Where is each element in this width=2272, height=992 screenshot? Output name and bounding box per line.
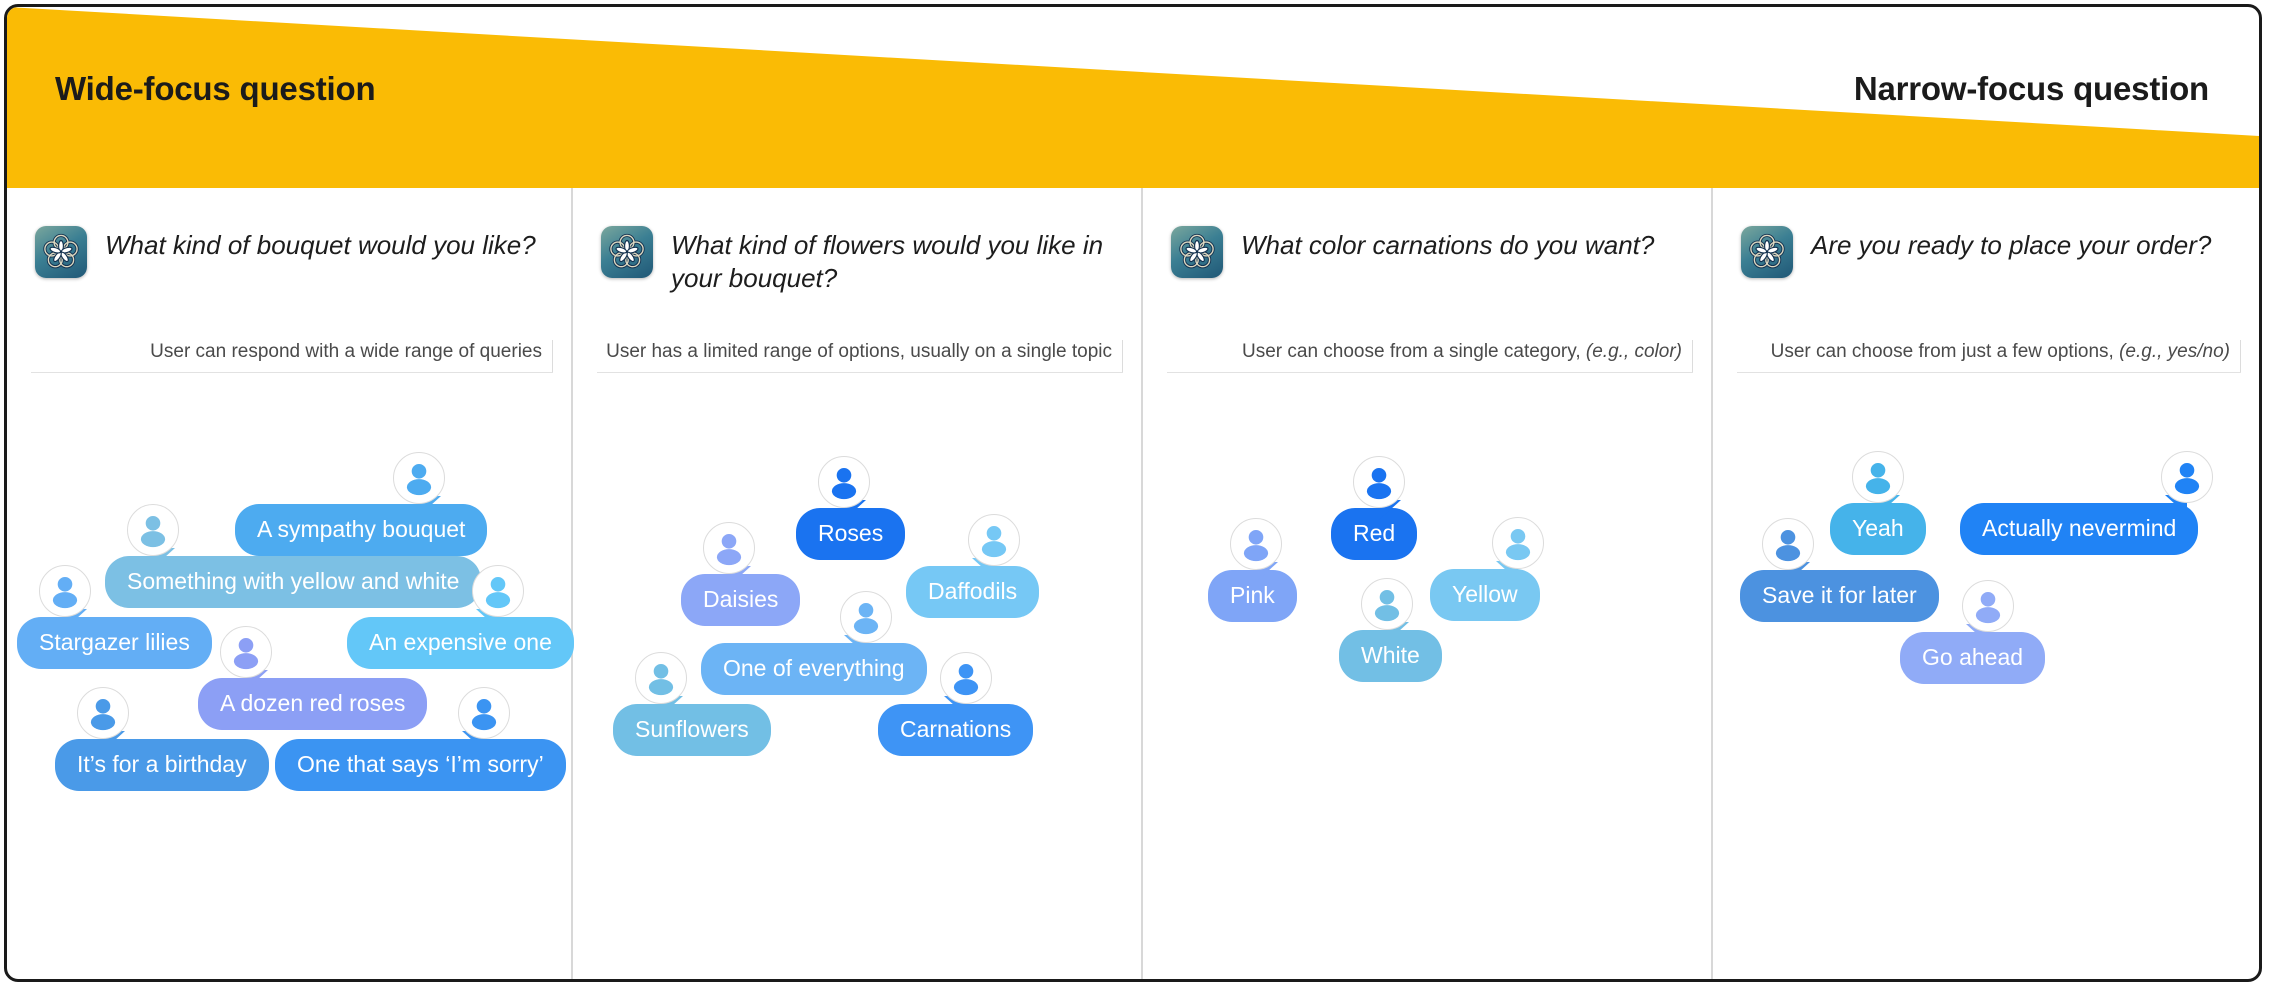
user-avatar-icon [1762,518,1814,570]
flower-app-icon [1741,226,1793,278]
user-avatar-icon [818,456,870,508]
user-avatar-icon [1492,517,1544,569]
caption-divider [1737,372,2241,374]
caption-text: User can choose from just a few options,… [1737,340,2241,372]
bubble-cluster: Yeah Actually nevermind Save it for late… [1713,408,2259,888]
caption-emphasis: (e.g., yes/no) [2119,341,2230,362]
narrow-focus-label: Narrow-focus question [1854,70,2209,108]
column-narrow-focus: Are you ready to place your order? User … [1713,188,2259,979]
column-single-category: What color carnations do you want? User … [1143,188,1713,979]
caption-text: User can respond with a wide range of qu… [31,340,553,372]
user-avatar-icon [127,504,179,556]
wide-focus-label: Wide-focus question [55,70,375,108]
suggestion-bubble[interactable]: Actually nevermind [1960,503,2198,555]
caption-text: User has a limited range of options, usu… [597,340,1123,372]
caption-emphasis: (e.g., color) [1586,341,1682,362]
user-avatar-icon [840,591,892,643]
caption-divider [597,372,1123,374]
question-row: What kind of bouquet would you like? [35,226,543,278]
user-avatar-icon [940,652,992,704]
suggestion-bubble[interactable]: An expensive one [347,617,574,669]
user-avatar-icon [968,514,1020,566]
bubble-cluster: Roses Daisies Daffodils One of everythin… [573,408,1141,888]
question-row: What kind of flowers would you like in y… [601,226,1113,296]
caption-text: User can choose from a single category, … [1167,340,1693,372]
suggestion-bubble[interactable]: One that says ‘I’m sorry’ [275,739,566,791]
bubble-cluster: A sympathy bouquet Something with yellow… [7,408,571,888]
suggestion-bubble[interactable]: Red [1331,508,1417,560]
suggestion-bubble[interactable]: Save it for later [1740,570,1939,622]
question-text: What color carnations do you want? [1241,226,1654,262]
caption-block: User can choose from a single category, … [1167,340,1693,373]
header-band: Wide-focus question Narrow-focus questio… [7,7,2259,188]
user-avatar-icon [2161,451,2213,503]
caption-divider [31,372,553,374]
caption-block: User has a limited range of options, usu… [597,340,1123,373]
user-avatar-icon [1353,456,1405,508]
user-avatar-icon [1852,451,1904,503]
caption-divider [1167,372,1693,374]
caption-plain: User can respond with a wide range of qu… [150,341,542,362]
user-avatar-icon [1962,580,2014,632]
question-text: Are you ready to place your order? [1811,226,2211,262]
caption-block: User can choose from just a few options,… [1737,340,2241,373]
suggestion-bubble[interactable]: One of everything [701,643,927,695]
flower-app-icon [35,226,87,278]
column-limited-options: What kind of flowers would you like in y… [573,188,1143,979]
question-row: What color carnations do you want? [1171,226,1683,278]
question-text: What kind of flowers would you like in y… [671,226,1113,296]
user-avatar-icon [77,687,129,739]
suggestion-bubble[interactable]: Sunflowers [613,704,771,756]
user-avatar-icon [472,565,524,617]
user-avatar-icon [39,565,91,617]
user-avatar-icon [393,452,445,504]
caption-plain: User has a limited range of options, usu… [606,341,1112,362]
question-row: Are you ready to place your order? [1741,226,2231,278]
diagram-frame: Wide-focus question Narrow-focus questio… [4,4,2262,982]
flower-app-icon [601,226,653,278]
suggestion-bubble[interactable]: Pink [1208,570,1297,622]
user-avatar-icon [1230,518,1282,570]
column-wide-focus: What kind of bouquet would you like? Use… [7,188,573,979]
bubble-cluster: Red Pink Yellow White [1143,408,1711,888]
user-avatar-icon [1361,578,1413,630]
user-avatar-icon [635,652,687,704]
caption-block: User can respond with a wide range of qu… [31,340,553,373]
user-avatar-icon [458,687,510,739]
suggestion-bubble[interactable]: A dozen red roses [198,678,427,730]
question-text: What kind of bouquet would you like? [105,226,536,262]
suggestion-bubble[interactable]: A sympathy bouquet [235,504,487,556]
caption-plain: User can choose from just a few options, [1771,341,2120,362]
caption-plain: User can choose from a single category, [1242,341,1586,362]
user-avatar-icon [220,626,272,678]
user-avatar-icon [703,522,755,574]
suggestion-bubble[interactable]: Stargazer lilies [17,617,212,669]
columns-container: What kind of bouquet would you like? Use… [7,188,2259,979]
suggestion-bubble[interactable]: It’s for a birthday [55,739,269,791]
suggestion-bubble[interactable]: Yellow [1430,569,1540,621]
flower-app-icon [1171,226,1223,278]
